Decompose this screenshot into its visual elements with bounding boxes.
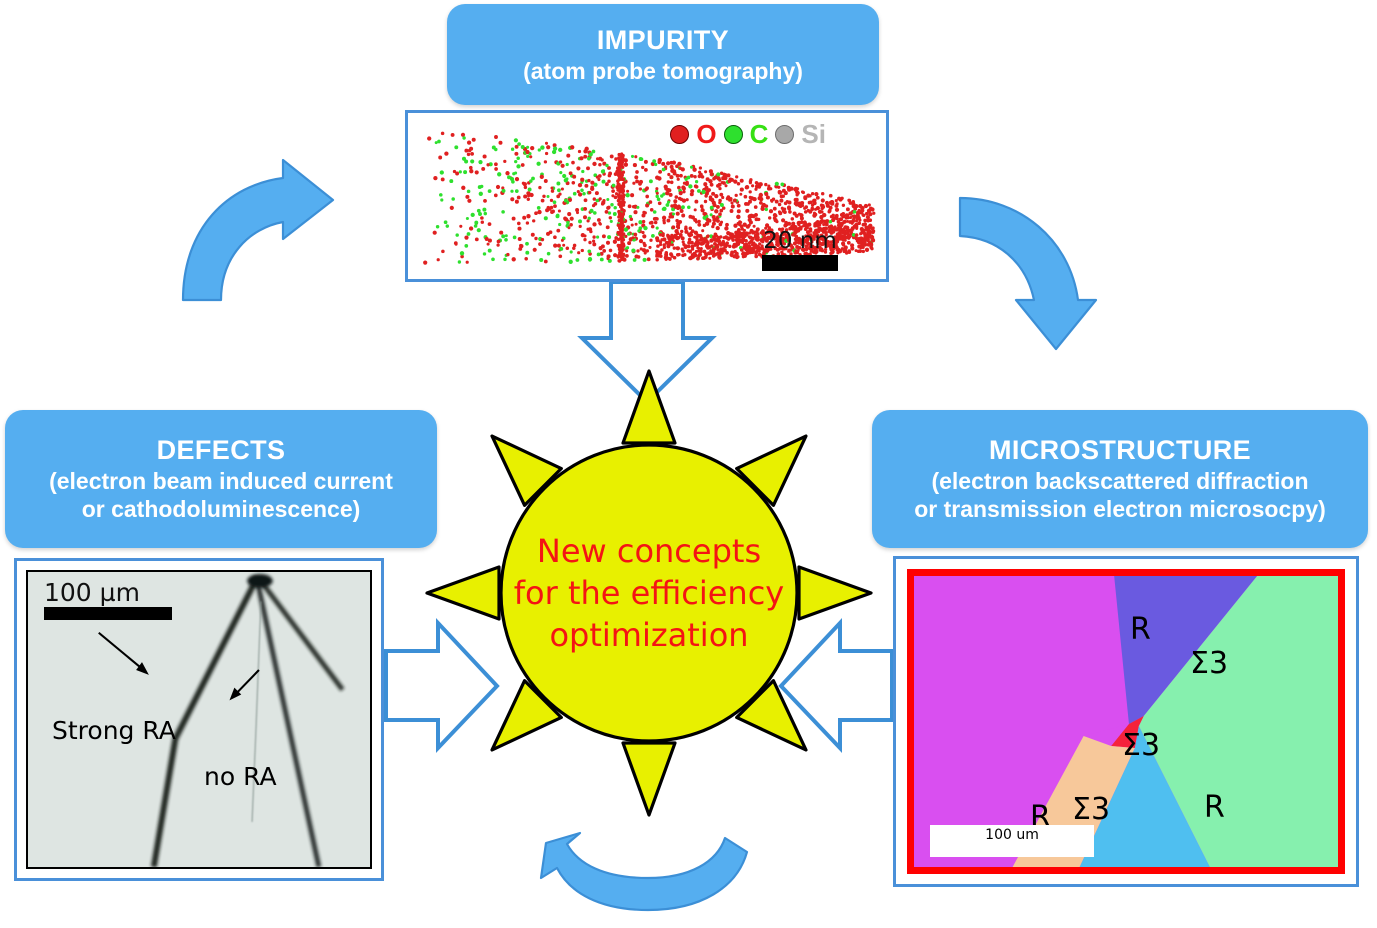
- apt-point-carbon: [589, 153, 593, 157]
- apt-point-oxygen: [707, 251, 711, 255]
- apt-point-oxygen: [622, 178, 625, 181]
- apt-point-oxygen: [747, 245, 751, 249]
- apt-point-carbon: [672, 212, 675, 215]
- apt-point-carbon: [581, 170, 584, 173]
- apt-point-oxygen: [550, 199, 553, 202]
- apt-point-oxygen: [636, 249, 639, 252]
- apt-point-oxygen: [621, 198, 624, 201]
- apt-point-oxygen: [690, 174, 694, 178]
- impurity-label-box: IMPURITY (atom probe tomography): [447, 4, 879, 105]
- apt-point-carbon: [439, 193, 443, 197]
- apt-point-oxygen: [662, 237, 666, 241]
- apt-point-oxygen: [786, 200, 789, 203]
- apt-point-carbon: [601, 169, 605, 173]
- apt-point-oxygen: [481, 167, 485, 171]
- apt-point-oxygen: [745, 209, 749, 213]
- apt-point-oxygen: [572, 175, 576, 179]
- apt-point-oxygen: [737, 209, 741, 213]
- apt-point-oxygen: [769, 187, 772, 190]
- apt-point-oxygen: [680, 209, 684, 213]
- apt-point-oxygen: [866, 218, 870, 222]
- apt-point-oxygen: [712, 218, 716, 222]
- apt-point-oxygen: [701, 256, 705, 260]
- apt-point-oxygen: [749, 196, 752, 199]
- apt-point-oxygen: [521, 163, 525, 167]
- apt-point-oxygen: [872, 212, 875, 215]
- apt-point-oxygen: [639, 187, 642, 190]
- apt-point-oxygen: [679, 167, 682, 170]
- apt-point-carbon: [582, 192, 586, 196]
- apt-point-oxygen: [583, 155, 587, 159]
- apt-point-oxygen: [546, 145, 550, 149]
- apt-point-oxygen: [464, 235, 468, 239]
- apt-point-carbon: [528, 188, 532, 192]
- apt-point-oxygen: [688, 233, 692, 237]
- apt-point-oxygen: [708, 245, 711, 248]
- apt-point-oxygen: [759, 197, 763, 201]
- apt-point-oxygen: [441, 132, 445, 136]
- ebic-scale-bar: 100 µm: [44, 580, 172, 620]
- apt-point-oxygen: [598, 163, 601, 166]
- apt-point-oxygen: [618, 171, 621, 174]
- ebsd-label-sigma3-lower: Σ3: [1072, 792, 1110, 827]
- apt-point-oxygen: [499, 141, 503, 145]
- apt-point-oxygen: [649, 200, 653, 204]
- apt-point-oxygen: [577, 190, 580, 193]
- apt-point-oxygen: [657, 176, 661, 180]
- apt-point-oxygen: [631, 236, 634, 239]
- apt-point-oxygen: [754, 255, 758, 259]
- apt-point-oxygen: [745, 186, 749, 190]
- apt-point-oxygen: [605, 182, 609, 186]
- apt-point-carbon: [440, 170, 444, 174]
- apt-point-oxygen: [787, 207, 791, 211]
- apt-point-oxygen: [577, 251, 580, 254]
- apt-point-carbon: [697, 189, 701, 193]
- apt-point-carbon: [595, 199, 599, 203]
- apt-point-carbon: [662, 168, 666, 172]
- apt-point-oxygen: [803, 207, 806, 210]
- apt-point-oxygen: [789, 187, 793, 191]
- apt-point-oxygen: [666, 161, 670, 165]
- apt-point-oxygen: [625, 249, 628, 252]
- apt-point-oxygen: [702, 240, 706, 244]
- apt-point-oxygen: [512, 257, 516, 261]
- apt-point-oxygen: [550, 206, 554, 210]
- apt-point-carbon: [656, 227, 659, 230]
- apt-point-oxygen: [602, 234, 606, 238]
- apt-point-oxygen: [559, 160, 562, 163]
- apt-point-oxygen: [722, 240, 725, 243]
- apt-point-carbon: [449, 179, 453, 183]
- apt-point-oxygen: [669, 175, 673, 179]
- apt-point-oxygen: [667, 180, 671, 184]
- apt-point-carbon: [505, 234, 508, 237]
- ebic-image-inner: 100 µm Strong RA no RA: [26, 570, 372, 869]
- apt-point-oxygen: [483, 154, 487, 158]
- apt-point-oxygen: [550, 186, 553, 189]
- apt-point-oxygen: [572, 247, 575, 250]
- ebsd-label-r-top: R: [1130, 612, 1151, 647]
- apt-point-oxygen: [480, 216, 484, 220]
- apt-point-oxygen: [578, 183, 582, 187]
- apt-point-oxygen: [583, 234, 586, 237]
- apt-point-carbon: [553, 200, 557, 204]
- apt-point-oxygen: [814, 213, 818, 217]
- apt-point-oxygen: [587, 179, 590, 182]
- apt-point-carbon: [466, 217, 469, 220]
- apt-point-carbon: [652, 159, 656, 163]
- apt-point-oxygen: [870, 243, 873, 246]
- apt-point-oxygen: [644, 168, 648, 172]
- apt-point-oxygen: [630, 217, 634, 221]
- apt-point-oxygen: [592, 162, 596, 166]
- apt-point-oxygen: [740, 235, 744, 239]
- apt-point-oxygen: [807, 223, 810, 226]
- apt-point-oxygen: [668, 215, 672, 219]
- apt-point-oxygen: [681, 236, 685, 240]
- apt-point-oxygen: [847, 241, 851, 245]
- apt-point-carbon: [624, 227, 628, 231]
- apt-point-oxygen: [475, 170, 479, 174]
- apt-point-carbon: [484, 212, 487, 215]
- apt-point-oxygen: [669, 212, 672, 215]
- apt-point-oxygen: [841, 242, 845, 246]
- apt-point-oxygen: [584, 198, 588, 202]
- apt-point-oxygen: [705, 245, 708, 248]
- legend-dot-c: [724, 125, 743, 144]
- apt-point-oxygen: [441, 177, 445, 181]
- apt-point-carbon: [444, 220, 448, 224]
- apt-point-oxygen: [791, 217, 794, 220]
- microstructure-title: MICROSTRUCTURE: [989, 434, 1251, 467]
- apt-point-oxygen: [625, 254, 629, 258]
- apt-point-oxygen: [834, 204, 838, 208]
- apt-point-oxygen: [735, 194, 738, 197]
- apt-point-carbon: [497, 172, 501, 176]
- apt-point-oxygen: [659, 240, 662, 243]
- apt-point-carbon: [504, 238, 508, 242]
- curved-arrow-defects-to-impurity: [183, 160, 333, 300]
- apt-point-oxygen: [579, 225, 582, 228]
- apt-point-oxygen: [871, 238, 874, 241]
- apt-point-carbon: [526, 146, 529, 149]
- apt-point-oxygen: [814, 192, 818, 196]
- apt-point-oxygen: [708, 257, 711, 260]
- apt-scale-text: 20 nm: [762, 229, 838, 253]
- apt-point-oxygen: [461, 133, 465, 137]
- apt-point-oxygen: [712, 222, 716, 226]
- apt-point-carbon: [710, 206, 714, 210]
- apt-point-oxygen: [673, 203, 677, 207]
- apt-point-oxygen: [459, 225, 462, 228]
- apt-point-oxygen: [466, 261, 469, 264]
- apt-point-oxygen: [795, 214, 799, 218]
- apt-point-carbon: [511, 148, 514, 151]
- apt-point-oxygen: [712, 247, 716, 251]
- apt-point-oxygen: [815, 221, 819, 225]
- apt-point-oxygen: [564, 217, 568, 221]
- apt-point-oxygen: [737, 232, 740, 235]
- apt-point-oxygen: [628, 204, 632, 208]
- apt-point-oxygen: [642, 234, 646, 238]
- apt-point-oxygen: [760, 207, 764, 211]
- apt-point-oxygen: [467, 153, 470, 156]
- apt-point-oxygen: [737, 204, 741, 208]
- apt-point-carbon: [564, 199, 568, 203]
- apt-point-oxygen: [585, 147, 589, 151]
- apt-point-carbon: [462, 136, 465, 139]
- apt-point-oxygen: [599, 197, 602, 200]
- apt-point-oxygen: [675, 195, 679, 199]
- apt-point-carbon: [613, 206, 616, 209]
- apt-point-oxygen: [601, 244, 605, 248]
- apt-point-oxygen: [606, 206, 610, 210]
- apt-point-carbon: [455, 233, 458, 236]
- defects-subtitle-line2: or cathodoluminescence): [82, 495, 361, 523]
- apt-point-oxygen: [730, 201, 733, 204]
- sun-disc: [501, 445, 797, 741]
- apt-point-oxygen: [647, 257, 651, 261]
- apt-point-carbon: [512, 172, 515, 175]
- apt-point-oxygen: [757, 185, 761, 189]
- apt-point-oxygen: [710, 172, 714, 176]
- apt-point-oxygen: [814, 208, 817, 211]
- apt-point-carbon: [464, 244, 468, 248]
- apt-point-oxygen: [580, 178, 584, 182]
- apt-point-carbon: [610, 203, 613, 206]
- apt-point-carbon: [780, 183, 784, 187]
- apt-point-oxygen: [672, 161, 676, 165]
- apt-point-oxygen: [551, 189, 554, 192]
- apt-point-oxygen: [742, 231, 746, 235]
- apt-point-oxygen: [846, 207, 850, 211]
- apt-point-oxygen: [553, 243, 557, 247]
- apt-point-carbon: [610, 220, 613, 223]
- apt-point-carbon: [544, 216, 548, 220]
- apt-point-oxygen: [635, 223, 638, 226]
- apt-point-oxygen: [542, 195, 545, 198]
- apt-point-oxygen: [764, 192, 768, 196]
- apt-point-oxygen: [669, 235, 673, 239]
- apt-point-oxygen: [662, 219, 665, 222]
- apt-point-oxygen: [744, 195, 748, 199]
- apt-point-oxygen: [605, 210, 609, 214]
- apt-point-oxygen: [611, 194, 614, 197]
- apt-point-oxygen: [626, 190, 629, 193]
- apt-point-oxygen: [627, 241, 631, 245]
- apt-point-oxygen: [672, 169, 676, 173]
- apt-point-oxygen: [703, 182, 707, 186]
- apt-point-oxygen: [544, 160, 547, 163]
- apt-point-carbon: [531, 177, 535, 181]
- apt-point-oxygen: [558, 254, 562, 258]
- apt-point-oxygen: [757, 247, 760, 250]
- apt-point-carbon: [547, 195, 550, 198]
- apt-point-oxygen: [740, 179, 744, 183]
- apt-point-oxygen: [499, 231, 503, 235]
- apt-point-oxygen: [483, 199, 487, 203]
- apt-point-oxygen: [847, 233, 851, 237]
- apt-point-oxygen: [642, 211, 645, 214]
- apt-point-oxygen: [673, 256, 677, 260]
- apt-point-carbon: [557, 188, 561, 192]
- apt-point-oxygen: [683, 182, 686, 185]
- apt-point-oxygen: [656, 192, 659, 195]
- apt-point-oxygen: [692, 252, 696, 256]
- apt-point-carbon: [573, 192, 577, 196]
- apt-point-carbon: [643, 258, 647, 262]
- apt-point-carbon: [539, 258, 543, 262]
- apt-point-oxygen: [665, 191, 669, 195]
- apt-point-oxygen: [611, 189, 615, 193]
- apt-point-oxygen: [524, 257, 528, 261]
- apt-point-oxygen: [556, 229, 560, 233]
- apt-point-oxygen: [620, 155, 623, 158]
- apt-point-carbon: [626, 193, 630, 197]
- apt-point-oxygen: [855, 205, 858, 208]
- apt-point-carbon: [435, 141, 438, 144]
- apt-point-carbon: [458, 260, 461, 263]
- apt-point-oxygen: [740, 188, 744, 192]
- apt-point-oxygen: [518, 237, 522, 241]
- apt-point-oxygen: [634, 155, 637, 158]
- apt-point-oxygen: [778, 203, 782, 207]
- apt-point-oxygen: [870, 247, 873, 250]
- apt-point-oxygen: [855, 249, 858, 252]
- apt-point-carbon: [605, 164, 608, 167]
- apt-point-oxygen: [685, 181, 689, 185]
- apt-point-oxygen: [847, 229, 850, 232]
- apt-point-oxygen: [810, 207, 814, 211]
- apt-point-oxygen: [755, 181, 759, 185]
- sun-shape: [404, 368, 894, 818]
- apt-point-carbon: [681, 205, 685, 209]
- apt-point-oxygen: [677, 236, 681, 240]
- apt-point-oxygen: [748, 241, 751, 244]
- apt-point-oxygen: [621, 208, 624, 211]
- apt-point-oxygen: [649, 221, 652, 224]
- apt-point-oxygen: [592, 240, 595, 243]
- apt-point-carbon: [655, 195, 658, 198]
- apt-point-oxygen: [558, 209, 561, 212]
- apt-point-oxygen: [749, 214, 753, 218]
- apt-point-oxygen: [718, 187, 721, 190]
- apt-point-oxygen: [752, 246, 756, 250]
- apt-point-oxygen: [544, 260, 548, 264]
- apt-point-oxygen: [523, 194, 527, 198]
- apt-point-carbon: [491, 257, 495, 261]
- apt-point-oxygen: [855, 233, 859, 237]
- apt-point-oxygen: [865, 212, 868, 215]
- apt-point-carbon: [636, 206, 639, 209]
- apt-point-oxygen: [654, 221, 658, 225]
- apt-point-carbon: [593, 211, 597, 215]
- apt-point-oxygen: [841, 231, 845, 235]
- apt-point-oxygen: [618, 168, 621, 171]
- apt-point-carbon: [631, 248, 635, 252]
- apt-point-oxygen: [697, 220, 700, 223]
- apt-point-oxygen: [619, 185, 622, 188]
- apt-point-carbon: [597, 252, 601, 256]
- apt-point-oxygen: [676, 174, 680, 178]
- apt-point-oxygen: [621, 203, 624, 206]
- apt-point-oxygen: [588, 241, 591, 244]
- apt-point-oxygen: [764, 183, 767, 186]
- curved-arrow-microstructure-to-defects: [541, 833, 747, 910]
- legend-dot-o: [670, 125, 689, 144]
- apt-point-oxygen: [858, 249, 862, 253]
- apt-point-oxygen: [778, 190, 782, 194]
- apt-point-oxygen: [825, 201, 829, 205]
- apt-point-oxygen: [680, 230, 683, 233]
- apt-point-carbon: [566, 163, 569, 166]
- apt-point-oxygen: [715, 235, 718, 238]
- apt-point-oxygen: [597, 218, 601, 222]
- apt-point-carbon: [600, 258, 604, 262]
- apt-point-oxygen: [561, 239, 564, 242]
- apt-point-oxygen: [512, 217, 516, 221]
- apt-point-oxygen: [694, 208, 697, 211]
- apt-point-oxygen: [844, 239, 847, 242]
- apt-point-oxygen: [837, 220, 841, 224]
- apt-legend: O C Si: [670, 119, 826, 150]
- apt-point-oxygen: [658, 201, 662, 205]
- apt-point-oxygen: [748, 235, 751, 238]
- apt-point-oxygen: [716, 205, 720, 209]
- apt-point-carbon: [474, 224, 478, 228]
- apt-point-oxygen: [633, 233, 637, 237]
- apt-point-oxygen: [731, 233, 734, 236]
- apt-point-oxygen: [567, 226, 570, 229]
- apt-point-carbon: [558, 223, 561, 226]
- apt-point-oxygen: [821, 192, 824, 195]
- apt-point-oxygen: [610, 154, 614, 158]
- apt-point-oxygen: [845, 252, 848, 255]
- apt-point-oxygen: [664, 165, 667, 168]
- apt-point-oxygen: [728, 245, 731, 248]
- ebsd-scale-bar: 100 um: [930, 825, 1094, 857]
- apt-point-oxygen: [855, 216, 859, 220]
- apt-scale-rule: [762, 255, 838, 271]
- apt-point-oxygen: [576, 166, 580, 170]
- impurity-title: IMPURITY: [597, 24, 729, 57]
- apt-point-oxygen: [808, 194, 811, 197]
- apt-point-oxygen: [716, 176, 720, 180]
- apt-point-oxygen: [797, 223, 800, 226]
- apt-point-oxygen: [804, 210, 808, 214]
- apt-point-oxygen: [842, 214, 846, 218]
- apt-point-oxygen: [705, 186, 709, 190]
- apt-point-carbon: [553, 146, 557, 150]
- legend-label-c: C: [750, 119, 769, 150]
- apt-point-oxygen: [802, 191, 805, 194]
- apt-point-oxygen: [475, 238, 479, 242]
- apt-point-carbon: [638, 220, 642, 224]
- apt-point-carbon: [488, 249, 492, 253]
- apt-point-oxygen: [557, 244, 561, 248]
- apt-point-oxygen: [735, 175, 738, 178]
- apt-point-oxygen: [729, 198, 732, 201]
- apt-point-oxygen: [427, 136, 431, 140]
- apt-point-carbon: [514, 138, 518, 142]
- apt-point-carbon: [460, 251, 464, 255]
- apt-point-oxygen: [553, 235, 557, 239]
- apt-point-carbon: [701, 190, 705, 194]
- apt-point-carbon: [483, 252, 486, 255]
- apt-point-oxygen: [670, 254, 673, 257]
- apt-point-carbon: [536, 162, 540, 166]
